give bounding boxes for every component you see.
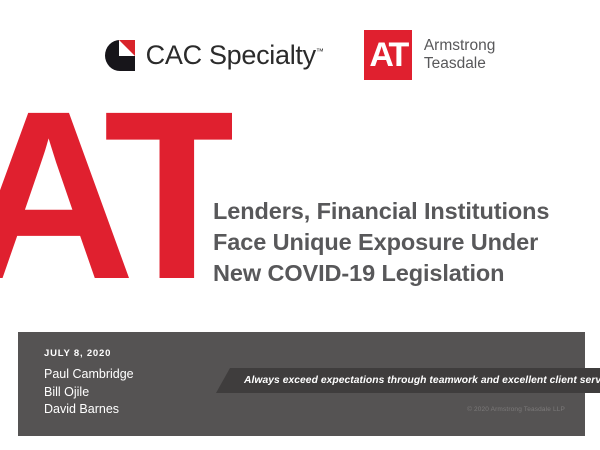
- armstrong-teasdale-wordmark-line1: Armstrong: [424, 37, 496, 55]
- cac-mark-red-triangle: [119, 40, 135, 56]
- cac-specialty-wordmark-text: CAC Specialty: [146, 40, 316, 70]
- title-line-2: Face Unique Exposure Under: [213, 227, 583, 258]
- armstrong-teasdale-monogram: AT: [369, 38, 406, 72]
- cac-specialty-wordmark: CAC Specialty™: [146, 42, 324, 69]
- title-line-1: Lenders, Financial Institutions: [213, 196, 583, 227]
- presenter-name: David Barnes: [44, 401, 134, 419]
- presenter-name: Paul Cambridge: [44, 366, 134, 384]
- presenter-name: Bill Ojile: [44, 384, 134, 402]
- armstrong-teasdale-logo: AT Armstrong Teasdale: [364, 30, 496, 80]
- tagline-ribbon: Always exceed expectations through teamw…: [216, 368, 600, 393]
- logo-row: CAC Specialty™ AT Armstrong Teasdale: [0, 26, 600, 84]
- armstrong-teasdale-wordmark: Armstrong Teasdale: [424, 37, 496, 74]
- copyright-notice: © 2020 Armstrong Teasdale LLP: [467, 406, 565, 413]
- presentation-slide: CAC Specialty™ AT Armstrong Teasdale AT …: [0, 0, 600, 450]
- at-watermark-graphic: AT: [0, 96, 232, 296]
- title-line-3: New COVID-19 Legislation: [213, 258, 583, 289]
- trademark-icon: ™: [316, 47, 324, 56]
- cac-specialty-logo: CAC Specialty™: [105, 40, 324, 71]
- cac-specialty-logo-mark: [105, 40, 135, 71]
- footer-band: JULY 8, 2020 Paul Cambridge Bill Ojile D…: [18, 332, 585, 436]
- armstrong-teasdale-logo-mark: AT: [364, 30, 412, 80]
- page-title: Lenders, Financial Institutions Face Uni…: [213, 196, 583, 289]
- presenter-list: Paul Cambridge Bill Ojile David Barnes: [44, 366, 134, 419]
- presentation-date: JULY 8, 2020: [44, 348, 111, 359]
- armstrong-teasdale-wordmark-line2: Teasdale: [424, 55, 496, 73]
- tagline-text: Always exceed expectations through teamw…: [244, 375, 600, 386]
